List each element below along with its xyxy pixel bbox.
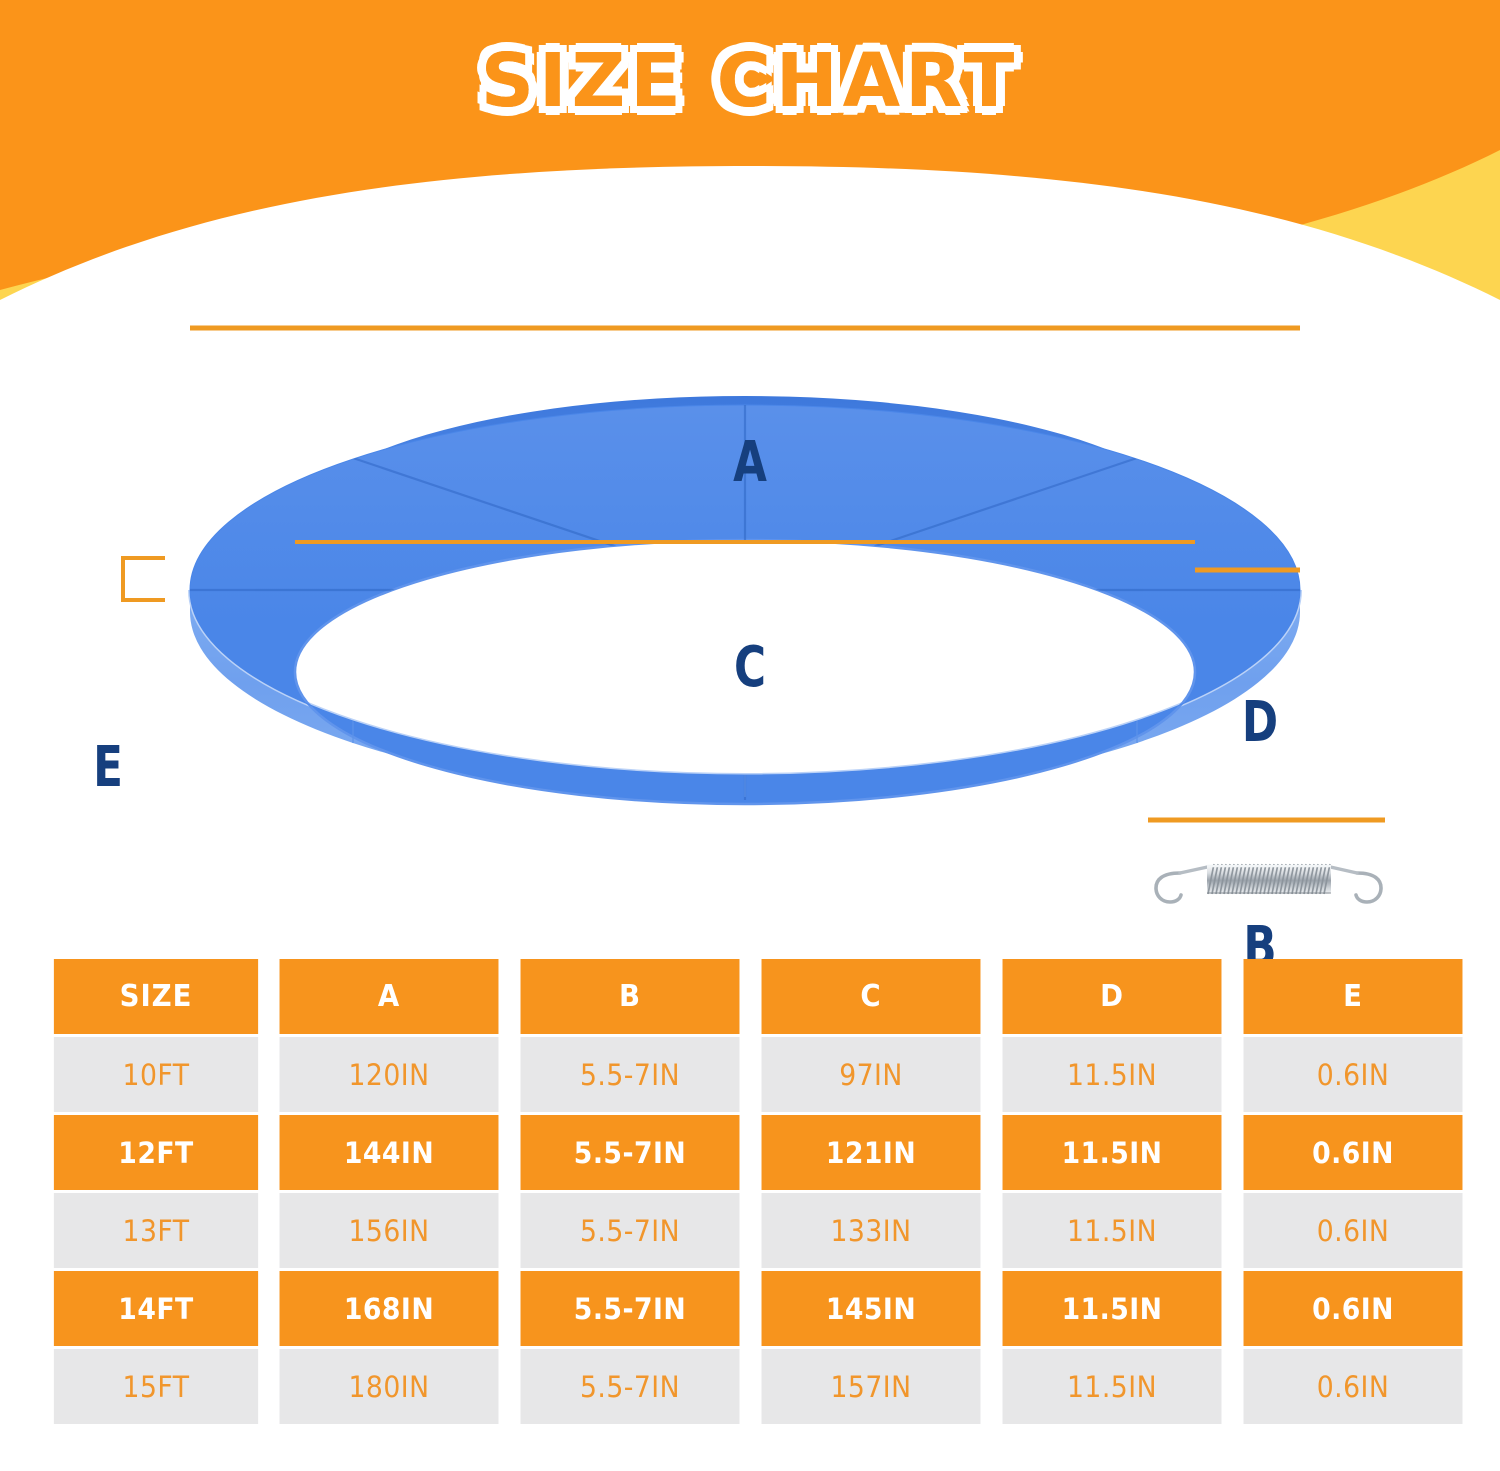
column-header-size: SIZE — [54, 959, 258, 1034]
cell-b: 5.5-7IN — [521, 1349, 740, 1424]
cell-e: 0.6IN — [1244, 1193, 1463, 1268]
table-row: 12FT 144IN 5.5-7IN 121IN 11.5IN 0.6IN — [45, 1115, 1472, 1190]
table-header-row: SIZE A B C D E — [45, 959, 1472, 1034]
cell-c: 121IN — [762, 1115, 981, 1190]
table-row: 13FT 156IN 5.5-7IN 133IN 11.5IN 0.6IN — [45, 1193, 1472, 1268]
dimension-label-e: E — [61, 740, 155, 796]
table-body: 10FT 120IN 5.5-7IN 97IN 11.5IN 0.6IN 12F… — [45, 1037, 1472, 1424]
dimension-label-c: C — [703, 640, 797, 696]
cell-a: 156IN — [280, 1193, 499, 1268]
cell-size: 12FT — [54, 1115, 258, 1190]
cell-a: 180IN — [280, 1349, 499, 1424]
cell-e: 0.6IN — [1244, 1037, 1463, 1112]
cell-size: 14FT — [54, 1271, 258, 1346]
size-chart-page: SIZE CHART SIZE CHART — [0, 0, 1500, 1471]
column-header-b: B — [521, 959, 740, 1034]
cell-c: 157IN — [762, 1349, 981, 1424]
cell-b: 5.5-7IN — [521, 1115, 740, 1190]
size-table: SIZE A B C D E 10FT 120IN 5.5-7IN 97IN 1… — [42, 956, 1475, 1427]
column-header-a: A — [280, 959, 499, 1034]
dimension-label-d: D — [1213, 695, 1307, 751]
product-diagram: A C D E B — [0, 200, 1500, 940]
cell-d: 11.5IN — [1003, 1193, 1222, 1268]
cell-a: 120IN — [280, 1037, 499, 1112]
cell-e: 0.6IN — [1244, 1349, 1463, 1424]
trampoline-spring-icon — [1156, 864, 1381, 902]
column-header-e: E — [1244, 959, 1463, 1034]
cell-c: 145IN — [762, 1271, 981, 1346]
measure-bracket-e — [123, 558, 165, 600]
column-header-c: C — [762, 959, 981, 1034]
cell-d: 11.5IN — [1003, 1349, 1222, 1424]
cell-b: 5.5-7IN — [521, 1037, 740, 1112]
cell-c: 97IN — [762, 1037, 981, 1112]
cell-d: 11.5IN — [1003, 1115, 1222, 1190]
cell-b: 5.5-7IN — [521, 1193, 740, 1268]
cell-b: 5.5-7IN — [521, 1271, 740, 1346]
cell-a: 144IN — [280, 1115, 499, 1190]
cell-c: 133IN — [762, 1193, 981, 1268]
cell-size: 15FT — [54, 1349, 258, 1424]
column-header-d: D — [1003, 959, 1222, 1034]
table-row: 10FT 120IN 5.5-7IN 97IN 11.5IN 0.6IN — [45, 1037, 1472, 1112]
table-header: SIZE A B C D E — [45, 959, 1472, 1034]
cell-size: 13FT — [54, 1193, 258, 1268]
cell-a: 168IN — [280, 1271, 499, 1346]
cell-size: 10FT — [54, 1037, 258, 1112]
table-row: 15FT 180IN 5.5-7IN 157IN 11.5IN 0.6IN — [45, 1349, 1472, 1424]
cell-e: 0.6IN — [1244, 1115, 1463, 1190]
cell-e: 0.6IN — [1244, 1271, 1463, 1346]
dimension-label-a: A — [703, 435, 797, 491]
cell-d: 11.5IN — [1003, 1271, 1222, 1346]
table-row: 14FT 168IN 5.5-7IN 145IN 11.5IN 0.6IN — [45, 1271, 1472, 1346]
cell-d: 11.5IN — [1003, 1037, 1222, 1112]
